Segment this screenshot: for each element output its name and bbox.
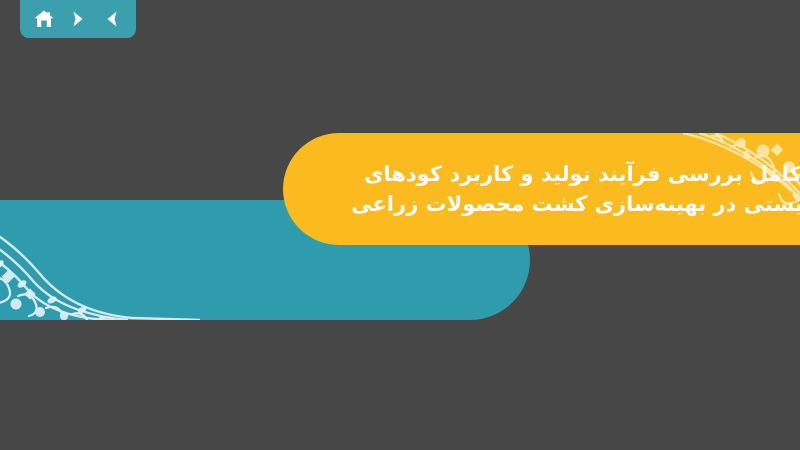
slide-title: کامل بررسی فرآیند تولید و کاربرد کودهای … (283, 133, 800, 245)
slide-canvas: کامل بررسی فرآیند تولید و کاربرد کودهای … (0, 0, 800, 450)
title-line-1: کامل بررسی فرآیند تولید و کاربرد کودهای (364, 159, 800, 189)
orange-title-banner: کامل بررسی فرآیند تولید و کاربرد کودهای … (283, 133, 800, 245)
title-line-2: زیستی در بهینه‌سازی کشت محصولات زراعی (351, 189, 800, 219)
triangle-left-icon (102, 9, 122, 29)
navigation-bar (20, 0, 136, 38)
triangle-right-icon (68, 9, 88, 29)
home-button[interactable] (29, 4, 59, 34)
forward-button[interactable] (63, 4, 93, 34)
teal-arabesque-ornament-icon (0, 200, 200, 320)
back-button[interactable] (97, 4, 127, 34)
home-icon (33, 9, 55, 29)
